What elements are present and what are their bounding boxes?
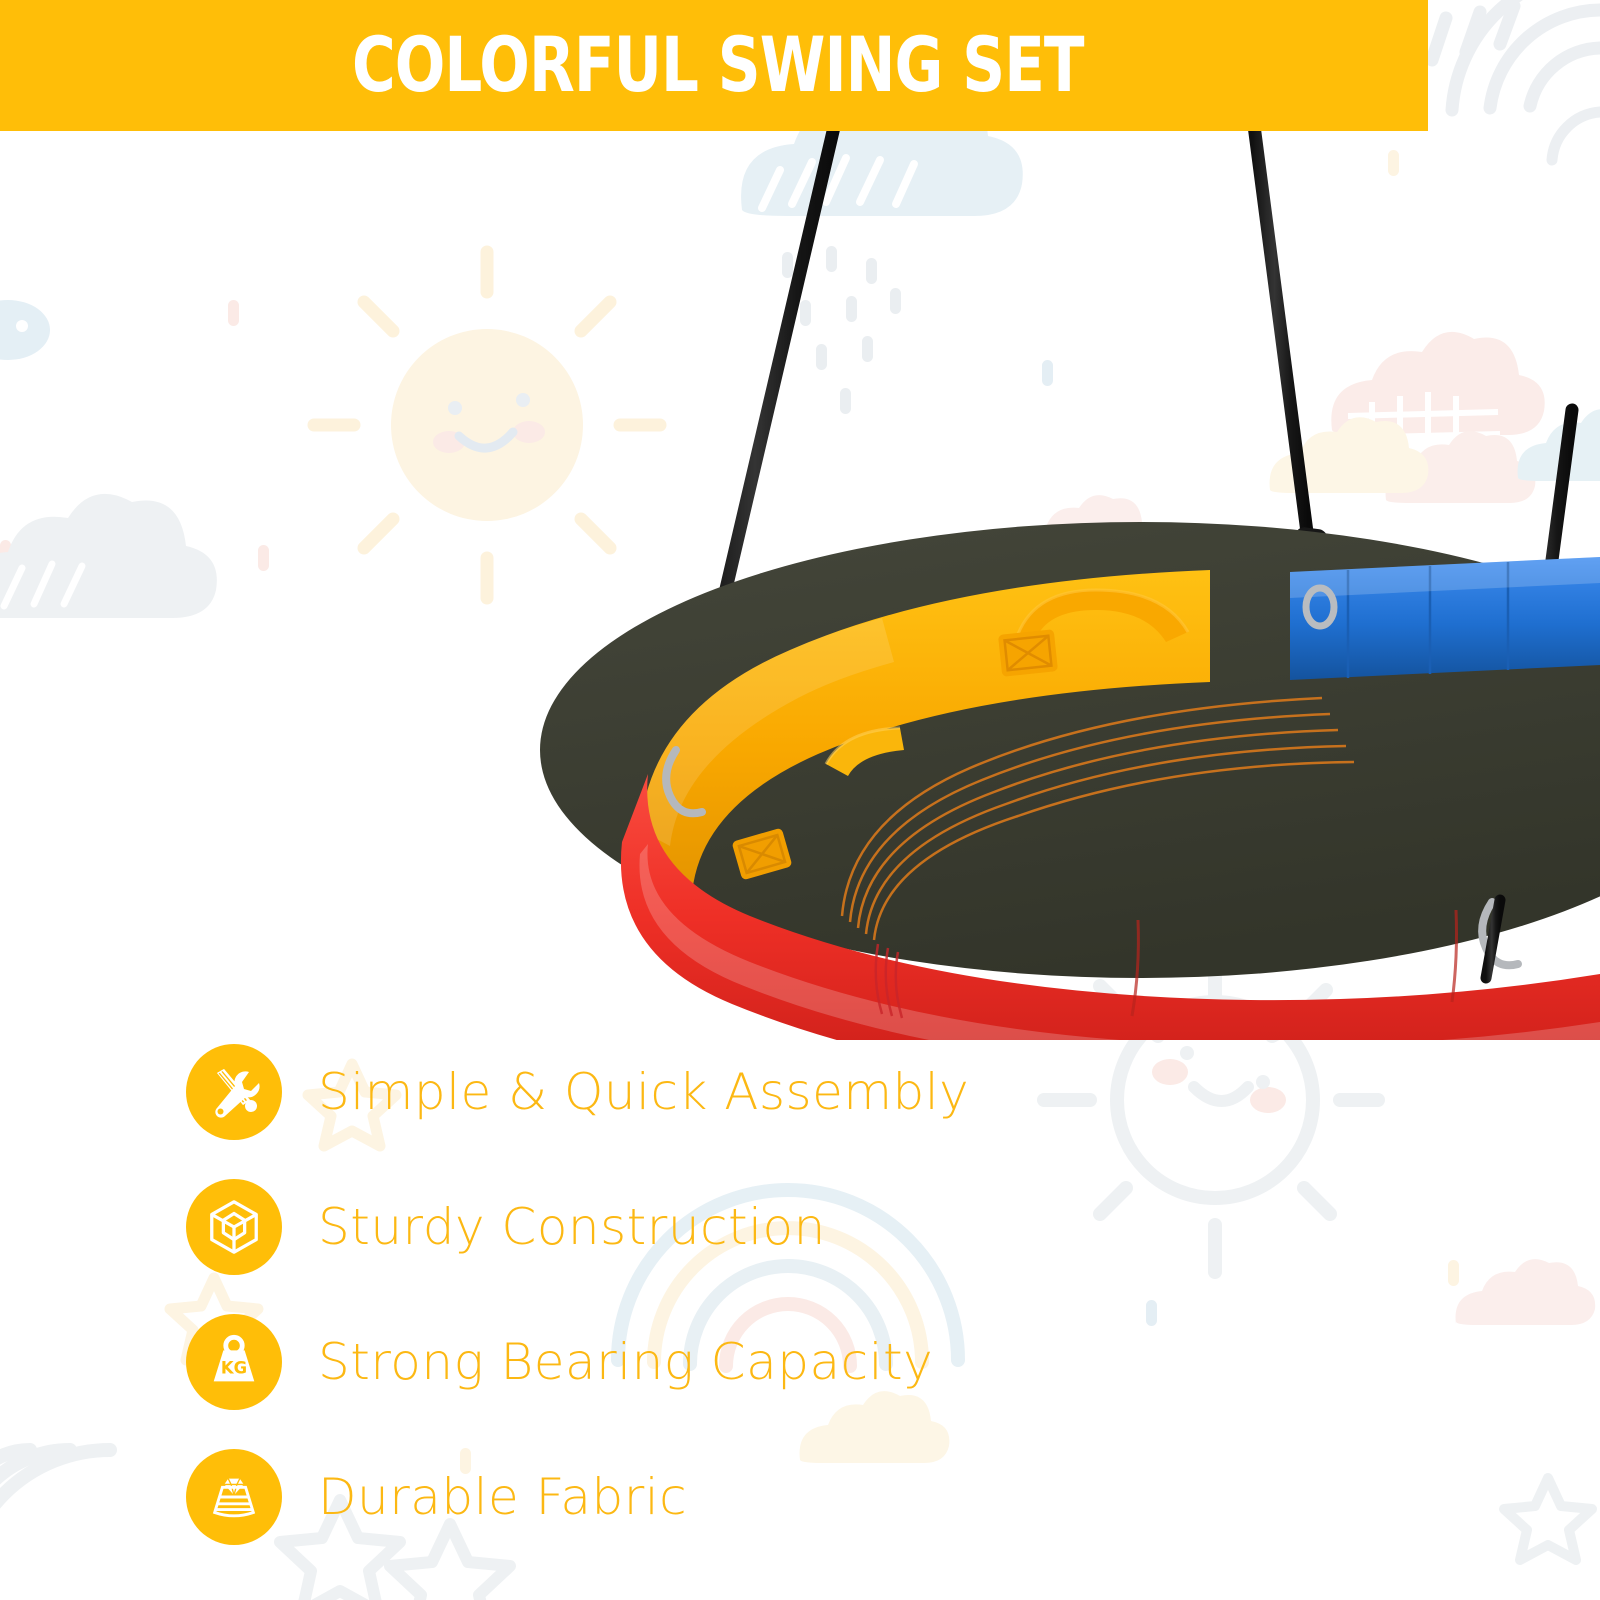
header-banner: COLORFUL SWING SET [0,0,1428,131]
rope-adjuster-clamp-icon [673,526,1534,808]
carabiner-hook-icon [666,750,1518,965]
handle-anchor-patch [998,629,1058,677]
product-infographic-page: COLORFUL SWING SET [0,0,1600,1600]
feature-item-capacity: KG Strong Bearing Capacity [186,1306,1086,1418]
swing-rim-blue [1290,556,1600,680]
page-title: COLORFUL SWING SET [352,28,1084,104]
feature-item-assembly: Simple & Quick Assembly [186,1036,1086,1148]
star-outline-gray-small-icon [1504,1478,1592,1560]
feature-item-construction: Sturdy Construction [186,1171,1086,1283]
fluffy-cloud-pink-small-icon [1020,495,1160,587]
swing-rope-right-lower [1486,900,1500,978]
corner-rainbow-gray-icon [1432,0,1600,110]
smiling-sun-cream-icon [314,252,660,598]
smiling-sun-gray-icon [1044,975,1378,1272]
fabric-diamond-icon [205,1468,263,1526]
swing-rope-group [688,110,1572,900]
feature-item-fabric: Durable Fabric [186,1441,1086,1553]
swing-rim-yellow [640,570,1354,940]
weight-icon-label: KG [221,1359,247,1378]
feature-label: Sturdy Construction [318,1202,826,1252]
weight-kg-icon: KG [205,1333,263,1391]
feature-list: Simple & Quick Assembly Sturdy Construct… [186,1036,1086,1576]
feature-label: Durable Fabric [318,1472,687,1522]
feature-badge: KG [186,1314,282,1410]
rain-cloud-gray-icon [0,494,217,618]
swing-rim-red [621,774,1600,1040]
fluffy-cloud-pink-dots-icon [1386,431,1536,545]
swing-seat-mesh [540,522,1600,978]
d-ring-icon [1306,588,1334,626]
corner-rainbow-gray-icon-2 [1552,112,1600,160]
feature-label: Simple & Quick Assembly [318,1067,969,1117]
droplet-blue-icon [0,300,50,360]
feature-label: Strong Bearing Capacity [318,1337,933,1387]
fluffy-cloud-cream-icon [1270,417,1429,493]
cube-box-icon [205,1198,263,1256]
fluffy-cloud-blue-dots-icon [1518,409,1600,521]
fluffy-cloud-gray-dots-icon [1456,1259,1596,1351]
feature-badge [186,1179,282,1275]
corner-rainbow-bottom-left-icon [0,1450,110,1600]
handle-anchor-patch-2 [731,828,792,881]
feature-badge [186,1044,282,1140]
scatter-dash-icon [0,300,269,571]
product-photo-swing [0,110,1600,1040]
feature-badge [186,1449,282,1545]
fluffy-cloud-pink-icon [1331,332,1544,452]
wrench-screwdriver-icon [204,1062,264,1122]
